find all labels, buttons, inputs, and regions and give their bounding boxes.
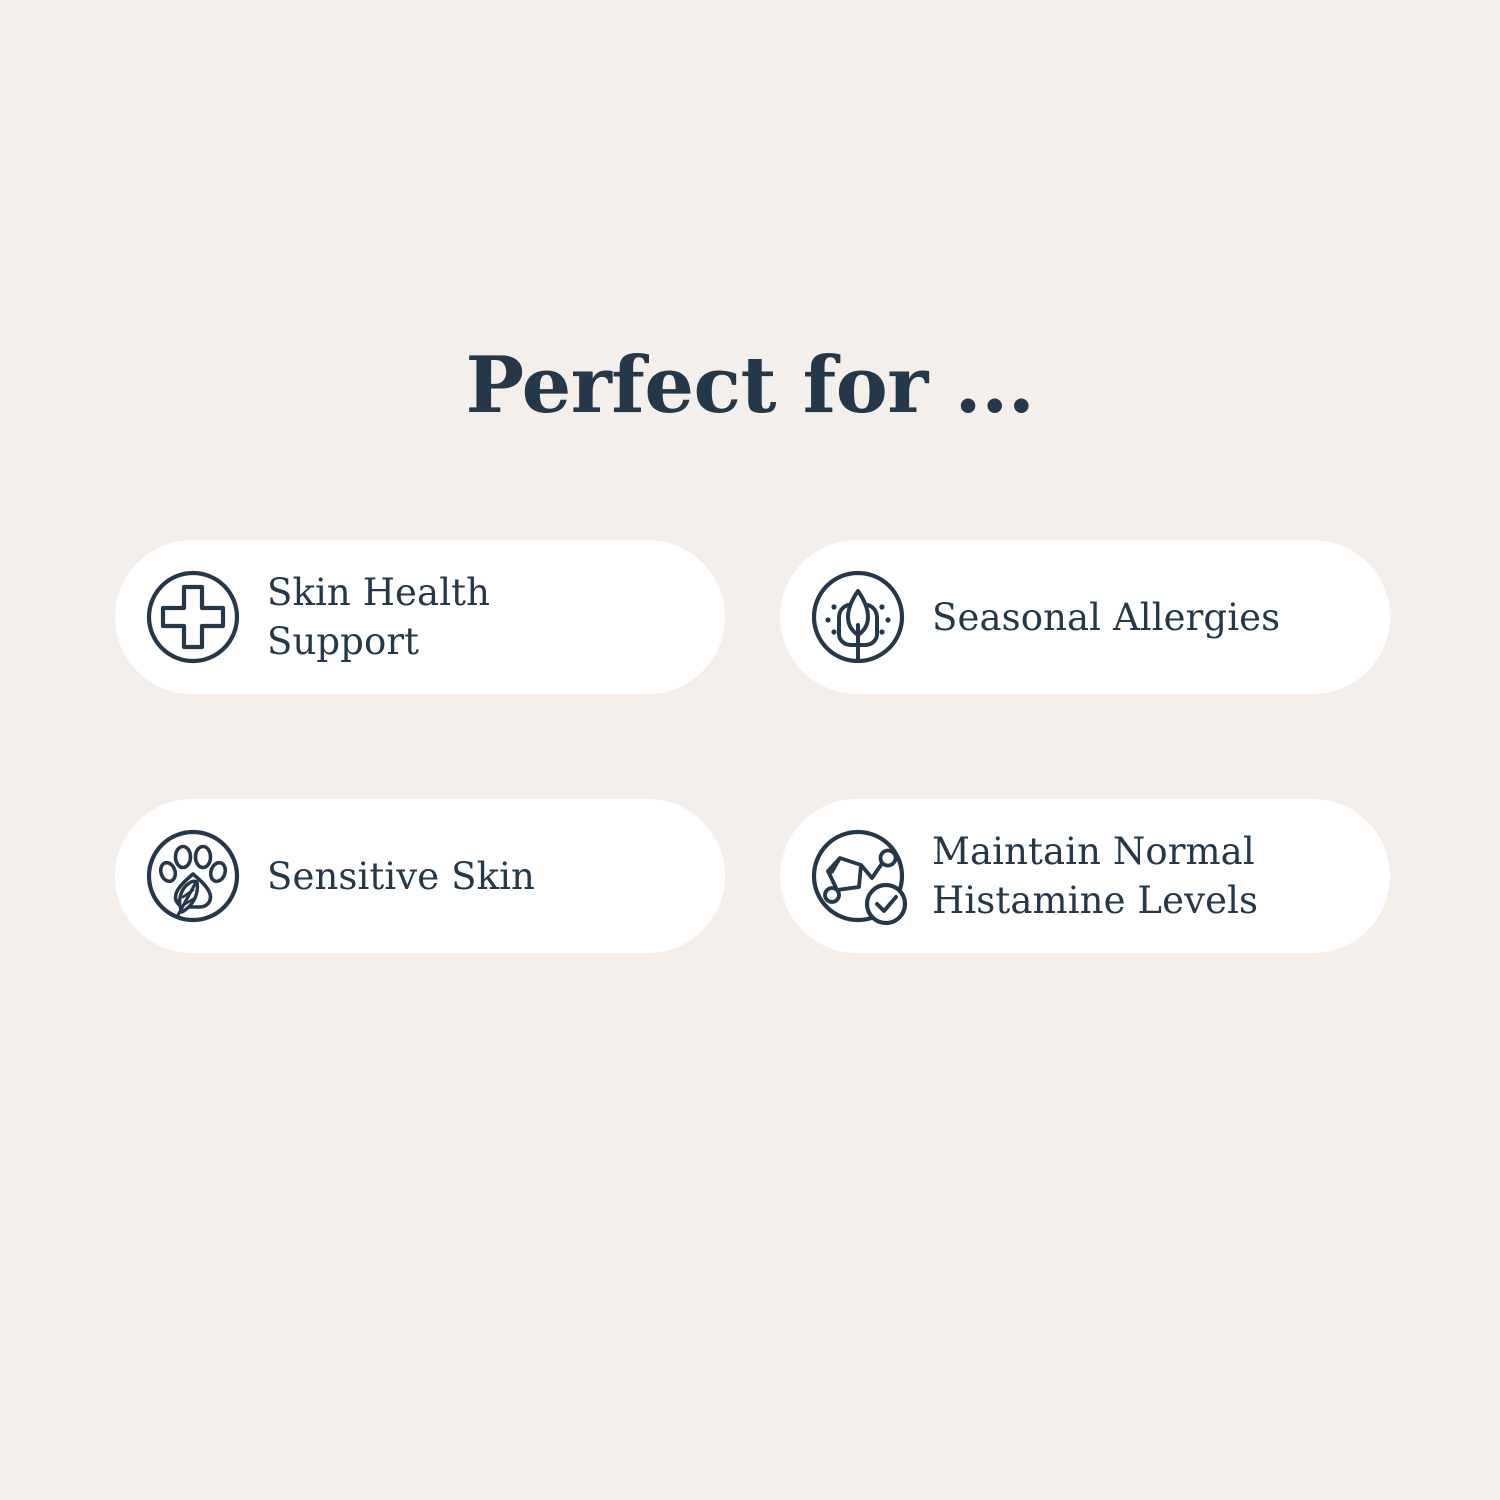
benefit-card-seasonal-allergies[interactable]: Seasonal Allergies	[780, 540, 1390, 694]
benefits-card-grid: Skin Health Support	[115, 540, 1390, 953]
molecule-check-icon	[806, 824, 910, 928]
benefit-label-line: Skin Health	[267, 568, 490, 617]
circle-plus-icon	[141, 565, 245, 669]
benefits-panel: Perfect for ... Skin Health Support	[0, 0, 1500, 1500]
benefit-label-line: Maintain Normal	[932, 827, 1258, 876]
benefit-card-histamine-levels[interactable]: Maintain Normal Histamine Levels	[780, 799, 1390, 953]
benefit-label-line: Sensitive Skin	[267, 852, 535, 901]
flower-pollen-icon	[806, 565, 910, 669]
benefit-card-skin-health-support[interactable]: Skin Health Support	[115, 540, 725, 694]
paw-feather-icon	[141, 824, 245, 928]
page-title: Perfect for ...	[0, 340, 1500, 432]
benefit-card-sensitive-skin[interactable]: Sensitive Skin	[115, 799, 725, 953]
benefit-label-line: Seasonal Allergies	[932, 593, 1280, 642]
benefit-label-line: Support	[267, 617, 490, 666]
benefit-card-label: Seasonal Allergies	[932, 593, 1280, 642]
benefit-label-line: Histamine Levels	[932, 876, 1258, 925]
benefit-card-label: Sensitive Skin	[267, 852, 535, 901]
benefit-card-label: Maintain Normal Histamine Levels	[932, 827, 1258, 925]
benefit-card-label: Skin Health Support	[267, 568, 490, 666]
